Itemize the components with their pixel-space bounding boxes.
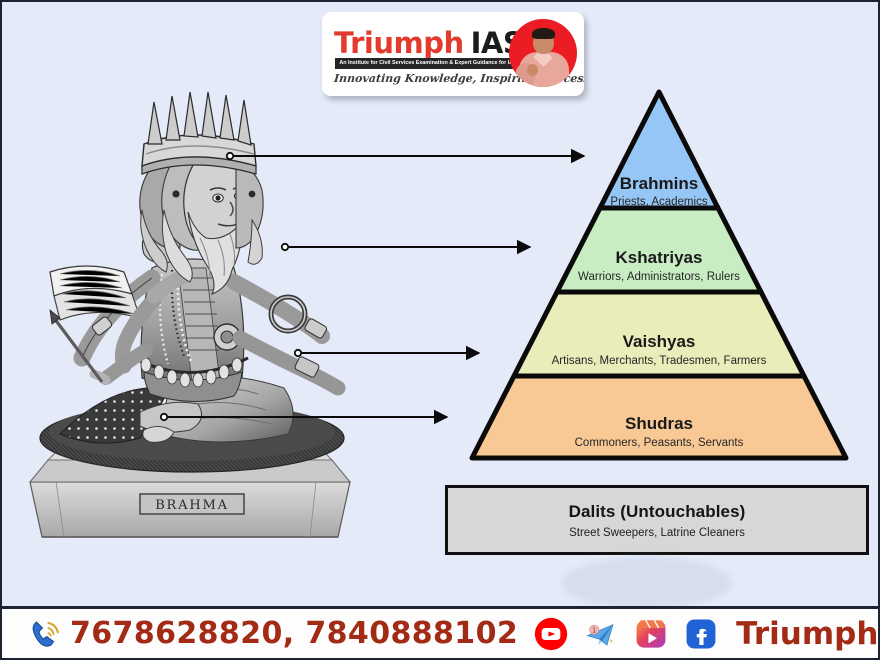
contact-footer-bar: 7678628820, 7840888102 1 bbox=[2, 606, 878, 658]
phone-icon bbox=[28, 617, 62, 651]
dalits-subtitle: Street Sweepers, Latrine Cleaners bbox=[569, 527, 745, 539]
pedestal-inscription: BRAHMA bbox=[155, 498, 229, 513]
tier-subtitle-vaishyas: Artisans, Merchants, Tradesmen, Farmers bbox=[552, 355, 767, 367]
tier-title-kshatriyas: Kshatriyas bbox=[616, 248, 703, 267]
tier-title-shudras: Shudras bbox=[625, 414, 693, 433]
brand-strip-text: An Institute for Civil Services Examinat… bbox=[335, 58, 521, 69]
brand-logo-card[interactable]: TriumphIAS An Institute for Civil Servic… bbox=[322, 12, 584, 96]
poster-canvas: TriumphIAS An Institute for Civil Servic… bbox=[0, 0, 880, 660]
manuscript-icon bbox=[50, 266, 140, 320]
brahma-engraving-illustration: BRAHMA bbox=[20, 82, 360, 552]
youtube-icon[interactable] bbox=[534, 617, 568, 651]
svg-text:1: 1 bbox=[592, 626, 596, 634]
tier-title-vaishyas: Vaishyas bbox=[623, 332, 696, 351]
pyramid-tier-kshatriyas[interactable]: Kshatriyas Warriors, Administrators, Rul… bbox=[557, 208, 761, 292]
background-watermark bbox=[562, 557, 732, 609]
brand-tagline: Innovating Knowledge, Inspiring Success bbox=[333, 72, 524, 85]
brand-wordmark: TriumphIAS bbox=[334, 26, 523, 60]
pyramid-tier-brahmins[interactable]: Brahmins Priests, Academics bbox=[600, 92, 718, 208]
tier-title-brahmins: Brahmins bbox=[620, 174, 698, 193]
phone-numbers[interactable]: 7678628820, 7840888102 bbox=[70, 616, 518, 651]
instructor-portrait-icon bbox=[509, 19, 577, 87]
website-url[interactable]: Triumphias.com bbox=[736, 616, 880, 652]
dalits-outside-box[interactable]: Dalits (Untouchables) Street Sweepers, L… bbox=[445, 485, 869, 555]
instagram-reels-icon[interactable] bbox=[634, 617, 668, 651]
brand-name-primary: Triumph bbox=[334, 26, 464, 60]
dalits-title: Dalits (Untouchables) bbox=[569, 502, 746, 522]
facebook-icon[interactable] bbox=[684, 617, 718, 651]
tier-subtitle-shudras: Commoners, Peasants, Servants bbox=[575, 437, 744, 449]
telegram-icon[interactable]: 1 bbox=[584, 617, 618, 651]
crown-icon bbox=[142, 92, 256, 174]
pyramid-tier-shudras[interactable]: Shudras Commoners, Peasants, Servants bbox=[472, 376, 846, 458]
pyramid-tier-vaishyas[interactable]: Vaishyas Artisans, Merchants, Tradesmen,… bbox=[514, 292, 804, 376]
tier-subtitle-kshatriyas: Warriors, Administrators, Rulers bbox=[578, 271, 740, 283]
caste-pyramid: Brahmins Priests, Academics Kshatriyas W… bbox=[432, 86, 880, 466]
